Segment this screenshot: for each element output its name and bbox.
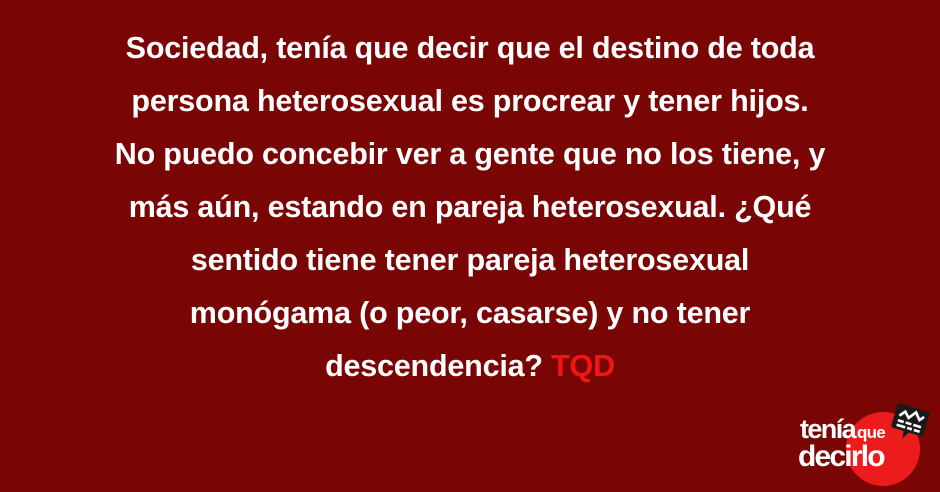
quote-line-5: sentido tiene tener pareja heterosexual: [70, 234, 870, 287]
quote-line-4: más aún, estando en pareja heterosexual.…: [70, 181, 870, 234]
quote-line-1: Sociedad, tenía que decir que el destino…: [70, 22, 870, 75]
quote-line-2: persona heterosexual es procrear y tener…: [70, 75, 870, 128]
tqd-quote-card: Sociedad, tenía que decir que el destino…: [0, 0, 940, 492]
speech-bubble-icon: [890, 404, 930, 444]
tqd-mark: TQD: [551, 349, 615, 383]
logo-text-decirlo: decirlo: [798, 440, 884, 474]
quote-line-7: descendencia? TQD: [70, 340, 870, 393]
quote-line-7-text: descendencia?: [325, 349, 551, 383]
quote-line-3: No puedo concebir ver a gente que no los…: [70, 128, 870, 181]
quote-block: Sociedad, tenía que decir que el destino…: [70, 22, 870, 393]
quote-line-6: monógama (o peor, casarse) y no tener: [70, 287, 870, 340]
tqd-logo[interactable]: teníaque decirlo: [786, 404, 938, 492]
